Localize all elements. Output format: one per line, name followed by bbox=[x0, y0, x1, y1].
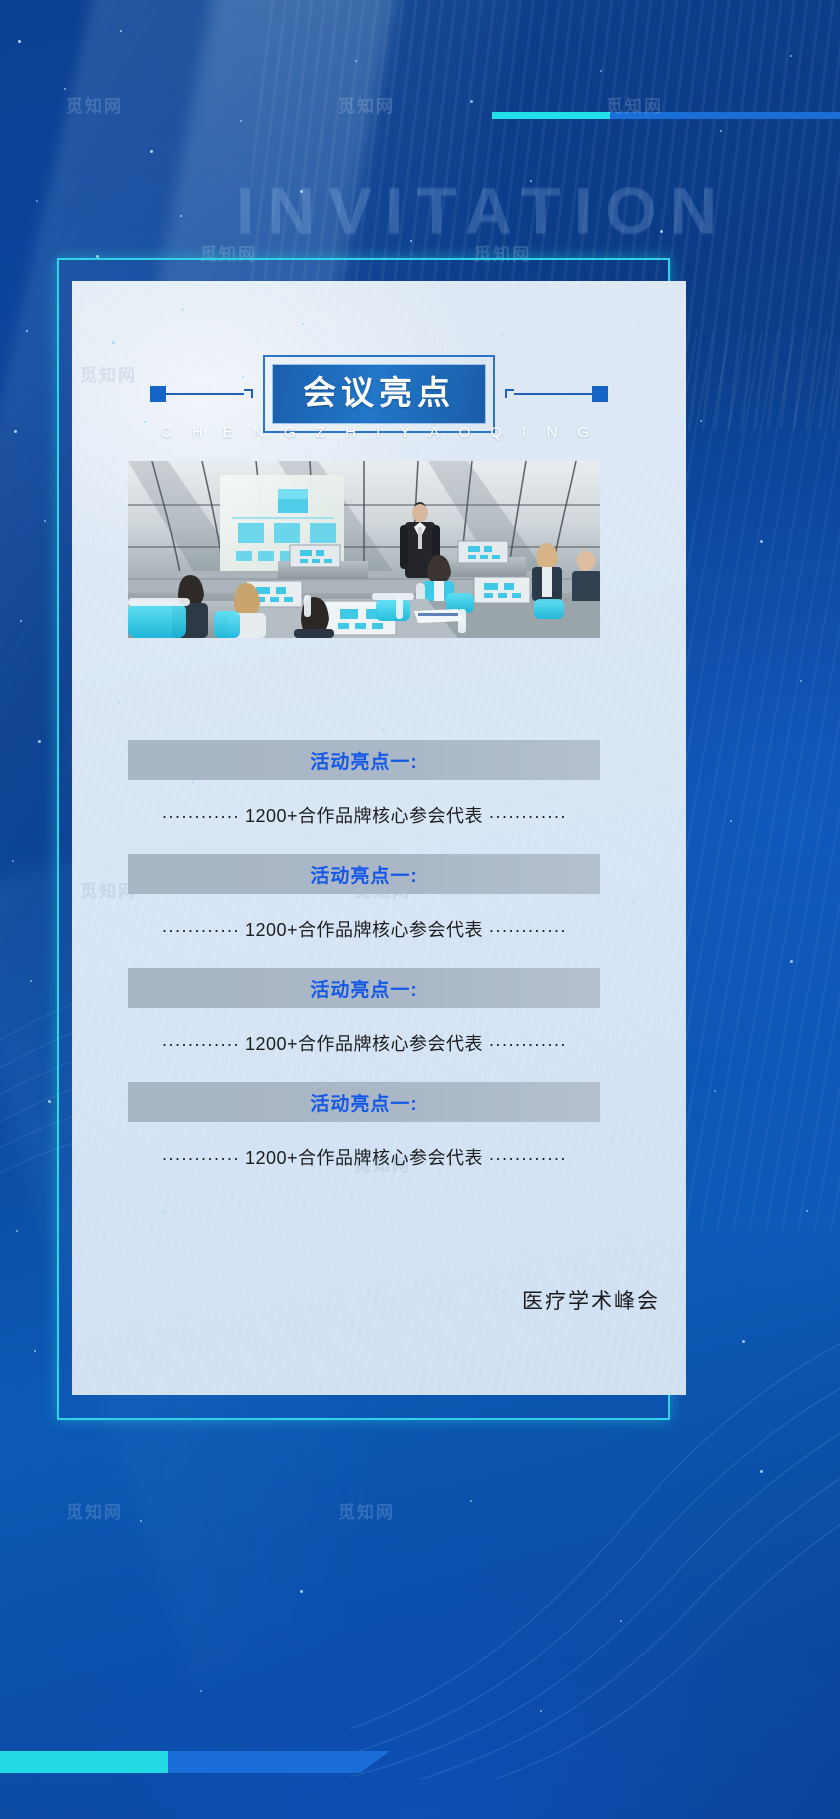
accent-segment-arrow bbox=[360, 1751, 390, 1773]
watermark: 觅知网 bbox=[338, 1498, 395, 1523]
highlight-description: ············ 1200+合作品牌核心参会代表 ···········… bbox=[128, 916, 600, 942]
highlight-description: ············ 1200+合作品牌核心参会代表 ···········… bbox=[128, 1030, 600, 1056]
event-signature: 医疗学术峰会 bbox=[522, 1285, 660, 1315]
background-word-invitation: INVITATION bbox=[236, 172, 730, 248]
highlight-label: 活动亮点一: bbox=[310, 747, 417, 774]
highlight-label: 活动亮点一: bbox=[310, 1089, 417, 1116]
title-box: 会议亮点 bbox=[263, 355, 495, 433]
watermark: 觅知网 bbox=[66, 92, 123, 117]
watermark: 觅知网 bbox=[200, 240, 257, 265]
decoration-line bbox=[166, 393, 244, 395]
highlight-block: 活动亮点一: ············ 1200+合作品牌核心参会代表 ····… bbox=[128, 1082, 600, 1170]
highlight-block: 活动亮点一: ············ 1200+合作品牌核心参会代表 ····… bbox=[128, 968, 600, 1056]
highlight-description: ············ 1200+合作品牌核心参会代表 ···········… bbox=[128, 1144, 600, 1170]
title-inner: 会议亮点 bbox=[272, 364, 486, 424]
highlight-bar: 活动亮点一: bbox=[128, 740, 600, 780]
title-row: 会议亮点 bbox=[72, 355, 686, 433]
title-decoration-right bbox=[505, 386, 608, 402]
highlight-bar: 活动亮点一: bbox=[128, 968, 600, 1008]
accent-segment-cyan bbox=[0, 1751, 168, 1773]
page-subtitle: C H E N G Z H I Y A O Q I N G bbox=[72, 424, 686, 441]
watermark: 觅知网 bbox=[338, 92, 395, 117]
highlight-block: 活动亮点一: ············ 1200+合作品牌核心参会代表 ····… bbox=[128, 740, 600, 828]
decoration-tick-icon bbox=[505, 389, 514, 398]
highlight-label: 活动亮点一: bbox=[310, 861, 417, 888]
page-title: 会议亮点 bbox=[303, 374, 455, 411]
watermark: 觅知网 bbox=[66, 1498, 123, 1523]
highlights-list: 活动亮点一: ············ 1200+合作品牌核心参会代表 ····… bbox=[128, 740, 600, 1196]
conference-hall-photo bbox=[128, 461, 600, 638]
highlight-description: ············ 1200+合作品牌核心参会代表 ···········… bbox=[128, 802, 600, 828]
highlight-bar: 活动亮点一: bbox=[128, 1082, 600, 1122]
highlight-bar: 活动亮点一: bbox=[128, 854, 600, 894]
content-card: 觅知网 觅知网 觅知网 觅知网 觅知网 会议亮点 C H E N G Z bbox=[72, 281, 686, 1395]
highlight-block: 活动亮点一: ············ 1200+合作品牌核心参会代表 ····… bbox=[128, 854, 600, 942]
accent-bar-bottom-left bbox=[0, 1751, 390, 1773]
accent-segment-cyan bbox=[492, 112, 610, 119]
invitation-poster: INVITATION 觅知网 觅知网 觅知网 觅知网 觅知网 觅知网 觅知网 bbox=[0, 0, 840, 1819]
accent-segment-blue bbox=[610, 112, 840, 119]
accent-bar-top-right bbox=[492, 112, 840, 119]
watermark: 觅知网 bbox=[474, 240, 531, 265]
accent-segment-blue bbox=[168, 1751, 360, 1773]
decoration-line bbox=[514, 393, 592, 395]
decoration-tick-icon bbox=[244, 389, 253, 398]
highlight-label: 活动亮点一: bbox=[310, 975, 417, 1002]
decoration-square-icon bbox=[592, 386, 608, 402]
title-decoration-left bbox=[150, 386, 253, 402]
decoration-square-icon bbox=[150, 386, 166, 402]
